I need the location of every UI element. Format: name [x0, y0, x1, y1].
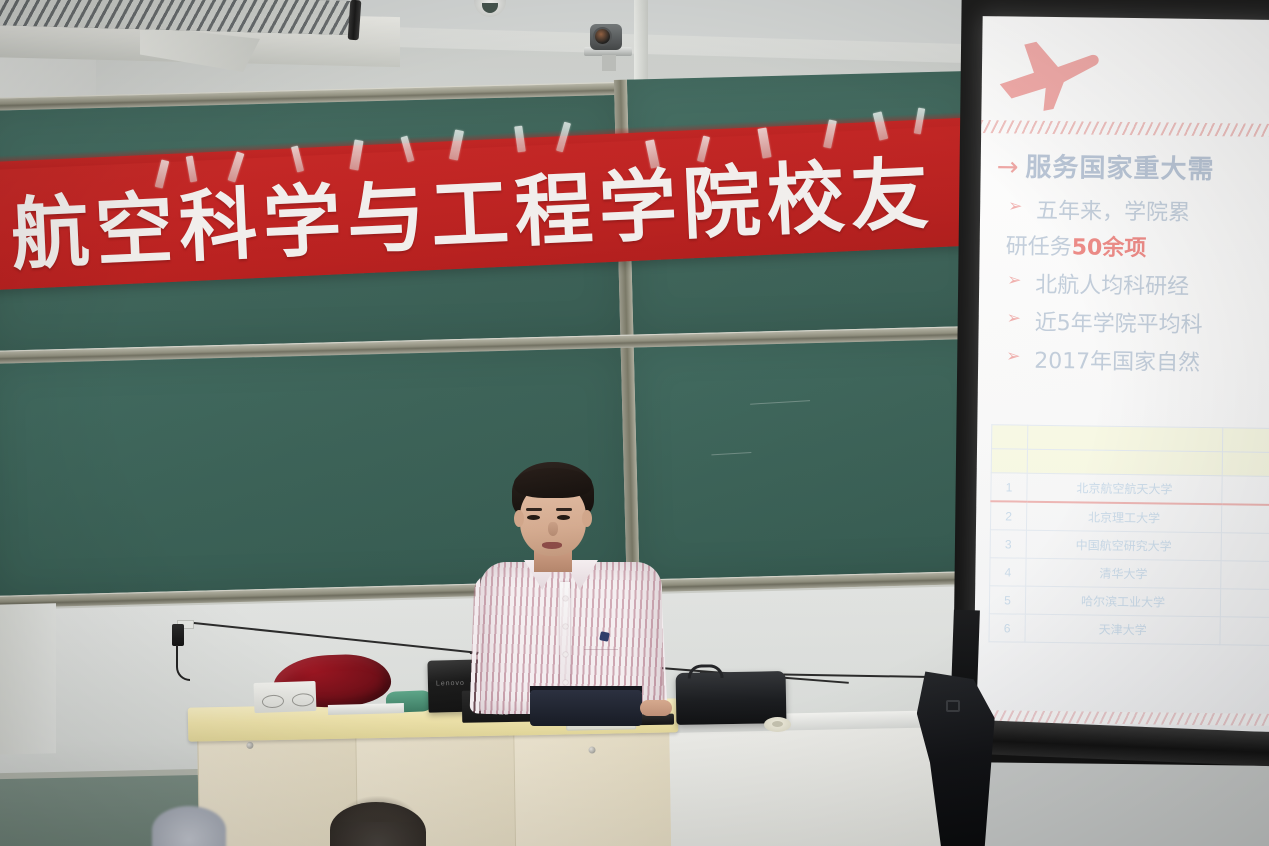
black-bag [676, 671, 787, 725]
paper-stack [328, 703, 404, 715]
bullet-2-line1: 北航人均科研经 [1035, 273, 1189, 300]
tape-roll [764, 717, 791, 732]
slide-table-head [991, 425, 1269, 477]
ptz-camera-icon [584, 24, 634, 56]
table-cell-index: 2 [990, 501, 1026, 530]
table-header-cell [991, 449, 1027, 473]
presenter [472, 462, 672, 712]
airplane-icon [993, 32, 1104, 119]
table-cell-value [1221, 561, 1269, 590]
presenter-nose [548, 522, 558, 536]
table-header-cell [1027, 449, 1222, 476]
bag-handle [687, 664, 723, 679]
slide-bullet-2: ➢ 北航人均科研经 [1035, 267, 1189, 301]
podium-knob-icon [246, 742, 253, 749]
table-row: 1 北京航空航天大学 [991, 473, 1269, 505]
bullet-marker-icon: ➢ [1007, 308, 1022, 328]
shirt-button [563, 624, 568, 629]
presenter-brow-left [526, 508, 542, 511]
shirt-button [563, 596, 568, 601]
table-cell-name: 中国航空研究大学 [1026, 530, 1221, 561]
table-header-cell [1028, 425, 1223, 452]
table-cell-name: 北京理工大学 [1026, 502, 1221, 533]
table-row: 3 中国航空研究大学 [990, 530, 1269, 562]
table-cell-index: 5 [989, 586, 1025, 614]
laptop-brand-label: Lenovo [436, 680, 465, 688]
audience-head-1 [152, 806, 226, 846]
slide-bullet-4: ➢ 2017年国家自然 [1034, 343, 1200, 377]
table-row: 5 哈尔滨工业大学 [989, 586, 1269, 618]
shirt-button [563, 652, 568, 657]
table-cell-name: 清华大学 [1026, 558, 1221, 589]
power-plug [172, 624, 184, 646]
slide-title-text: 服务国家重大需 [1025, 153, 1214, 185]
presenter-trousers [530, 690, 642, 726]
audience-head-2 [330, 802, 426, 846]
bullet-marker-icon: ➢ [1006, 346, 1021, 366]
shirt-button [563, 680, 568, 685]
bullet-marker-icon: ➢ [1008, 196, 1023, 216]
side-cabinet [647, 721, 968, 846]
presenter-ear-right [582, 510, 592, 527]
table-cell-value [1220, 617, 1269, 646]
table-header-cell [1222, 428, 1269, 453]
presenter-hand [640, 700, 672, 716]
table-cell-name: 天津大学 [1025, 614, 1220, 645]
slide-table: 1 北京航空航天大学 2 北京理工大学 3 中国航空研究大学 [988, 424, 1269, 646]
table-cell-index: 4 [990, 558, 1026, 586]
presenter-brow-right [556, 508, 572, 511]
slide-bullet-1: ➢ 五年来，学院累 [1036, 193, 1190, 227]
wall-niche [0, 603, 56, 754]
slide-table-body: 1 北京航空航天大学 2 北京理工大学 3 中国航空研究大学 [989, 473, 1269, 646]
arrow-icon: → [996, 152, 1019, 182]
lecture-hall-photo: 航空科学与工程学院校友 →服务国家重大需 ➢ 五年来，学院累 研任 [0, 0, 1269, 846]
projection-screen: →服务国家重大需 ➢ 五年来，学院累 研任务50余项 ➢ 北航人均科研经 ➢ 近… [973, 16, 1269, 732]
table-cell-value [1221, 533, 1269, 562]
table-cell-value [1220, 589, 1269, 618]
dome-camera-icon [474, 0, 506, 17]
presenter-mouth [542, 542, 562, 549]
coat-strap [946, 700, 960, 712]
bullet-4-line1: 2017年国家自然 [1034, 349, 1200, 376]
table-cell-index: 3 [990, 530, 1026, 558]
table-cell-value [1221, 504, 1269, 533]
table-cell-name: 北京航空航天大学 [1027, 473, 1222, 504]
bullet-1-line2: 研任务 [1005, 234, 1071, 260]
table-cell-index: 1 [991, 473, 1027, 502]
table-cell-name: 哈尔滨工业大学 [1025, 586, 1220, 617]
presentation-slide: →服务国家重大需 ➢ 五年来，学院累 研任务50余项 ➢ 北航人均科研经 ➢ 近… [973, 16, 1269, 732]
slide-hatch-divider [981, 120, 1269, 137]
table-cell-index: 6 [989, 614, 1025, 642]
slide-bullet-1-cont: 研任务50余项 [1005, 228, 1146, 262]
bullet-marker-icon: ➢ [1007, 270, 1022, 290]
table-header-cell [992, 425, 1028, 449]
table-cell-value [1222, 476, 1269, 505]
podium-knob-icon [588, 746, 595, 753]
presenter-eye-right [557, 515, 570, 520]
table-row: 4 清华大学 [990, 558, 1269, 590]
bullet-1-highlight: 50 [1071, 235, 1102, 260]
presenter-ear-left [514, 510, 524, 527]
bullet-1-line1: 五年来，学院累 [1036, 199, 1190, 226]
presenter-hair-front [514, 468, 592, 498]
table-header-cell [1222, 452, 1269, 477]
bullet-3-line1: 近5年学院平均科 [1034, 311, 1202, 338]
shirt-logo-icon [599, 631, 610, 642]
hanging-cable [176, 645, 190, 681]
slide-title: →服务国家重大需 [996, 146, 1214, 186]
presenter-eye-left [527, 515, 540, 520]
table-row: 2 北京理工大学 [990, 501, 1269, 533]
slide-bullet-3: ➢ 近5年学院平均科 [1034, 305, 1202, 339]
bullet-1-tail: 余项 [1102, 236, 1146, 262]
table-row: 6 天津大学 [989, 614, 1269, 646]
